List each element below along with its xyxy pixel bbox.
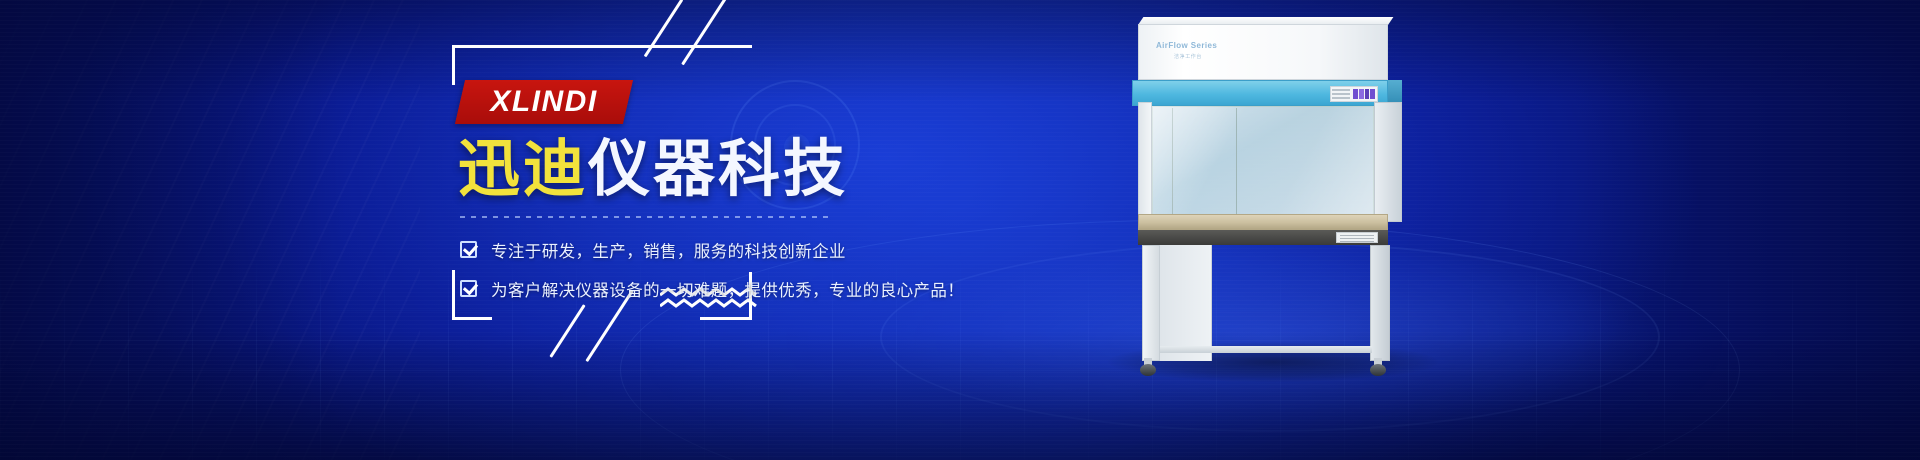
product-brand-sublabel: 洁净工作台: [1174, 53, 1202, 60]
list-item-label: 为客户解决仪器设备的一切难题，提供优秀，专业的良心产品！: [491, 277, 964, 301]
product-caster-wheel: [1140, 358, 1156, 376]
brand-logo: XLINDI: [460, 80, 628, 124]
list-item: 为客户解决仪器设备的一切难题，提供优秀，专业的良心产品！: [460, 277, 972, 301]
logo-text: XLINDI: [460, 80, 628, 124]
product-glass-reflection: [1152, 106, 1374, 216]
title-gold-part: 迅迪: [458, 132, 588, 205]
banner-content: XLINDI 迅迪仪器科技 专注于研发，生产，销售，服务的科技创新企业 为客户解…: [452, 80, 972, 316]
product-hood: [1138, 24, 1388, 80]
product-worktop: [1138, 214, 1388, 230]
panel-indicator-lights: [1351, 87, 1377, 101]
product-leg-right: [1370, 245, 1390, 361]
title-white-part: 仪器科技: [588, 132, 848, 205]
panel-labels: [1331, 87, 1351, 101]
checkbox-check-icon: [460, 280, 477, 297]
feature-list: 专注于研发，生产，销售，服务的科技创新企业 为客户解决仪器设备的一切难题，提供优…: [460, 238, 972, 301]
page-title: 迅迪仪器科技: [458, 136, 972, 202]
product-stretcher: [1160, 346, 1372, 353]
promo-banner: XLINDI 迅迪仪器科技 专注于研发，生产，销售，服务的科技创新企业 为客户解…: [0, 0, 1920, 460]
frame-corner-top-left: [452, 45, 752, 85]
product-brand-label: AirFlow Series: [1156, 41, 1217, 50]
product-side-right: [1374, 102, 1402, 222]
product-nameplate: [1336, 232, 1378, 243]
list-item-label: 专注于研发，生产，销售，服务的科技创新企业: [491, 238, 846, 262]
product-base-panel: [1160, 245, 1212, 361]
dotted-divider: [460, 216, 832, 218]
product-image-clean-bench: AirFlow Series 洁净工作台: [1118, 24, 1418, 374]
product-caster-wheel: [1370, 358, 1386, 376]
list-item: 专注于研发，生产，销售，服务的科技创新企业: [460, 238, 972, 262]
product-control-panel: [1330, 86, 1378, 102]
product-side-left: [1138, 102, 1152, 222]
product-leg-left: [1142, 245, 1160, 361]
checkbox-check-icon: [460, 241, 477, 258]
